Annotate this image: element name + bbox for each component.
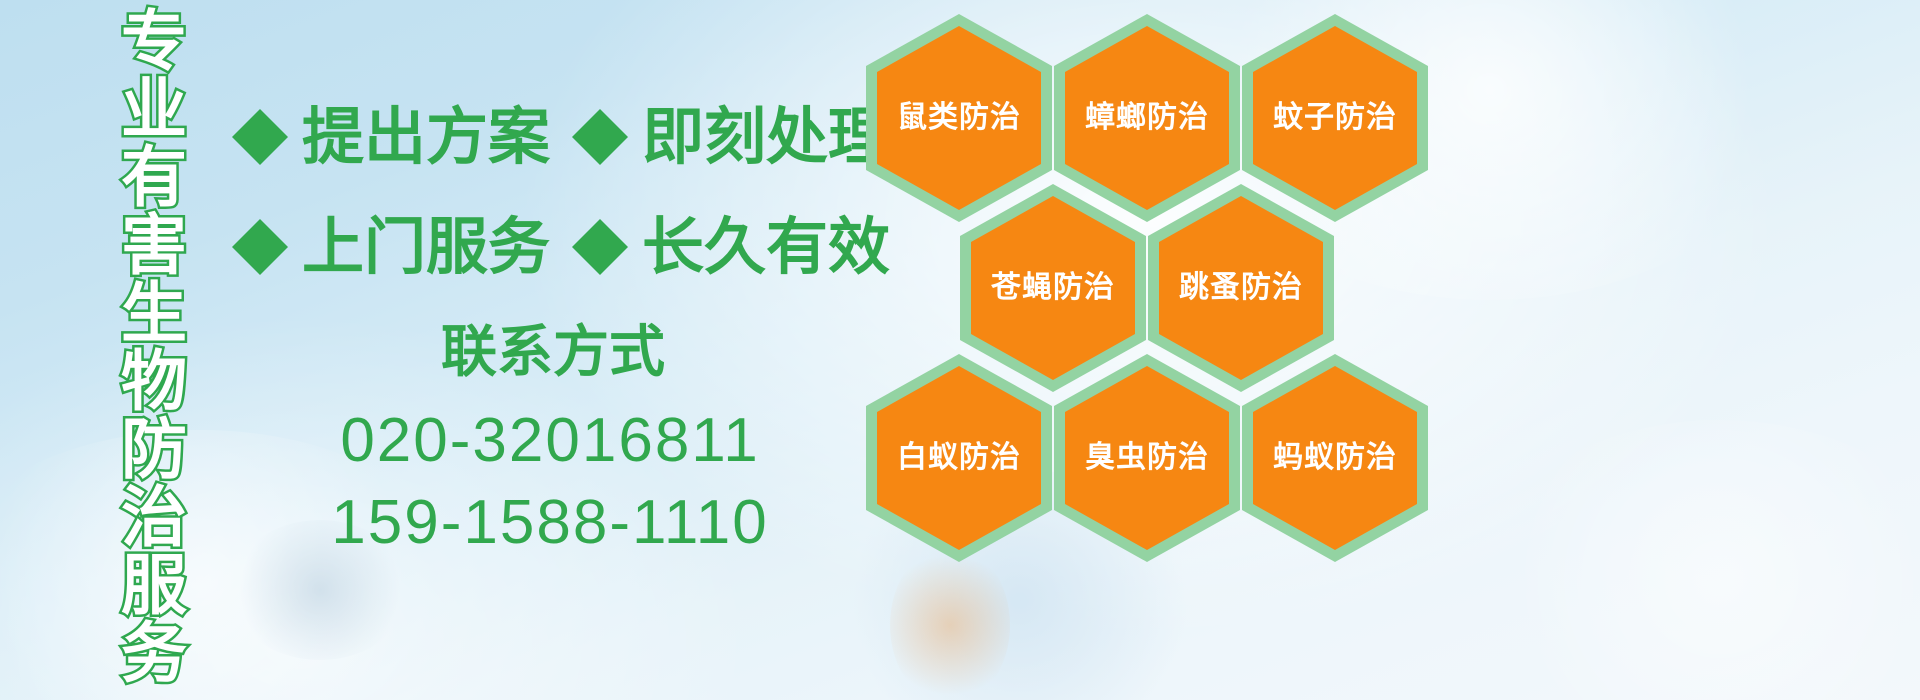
feature-item-long-lasting: 长久有效 bbox=[572, 215, 890, 279]
vertical-headline-char: 务 bbox=[121, 620, 187, 688]
vertical-headline-char: 物 bbox=[121, 348, 187, 416]
hex-label: 蚊子防治 bbox=[1273, 101, 1397, 135]
phone-landline[interactable]: 020-32016811 bbox=[300, 400, 800, 482]
background-glow-bottom-right bbox=[1480, 420, 1920, 700]
contact-block: 联系方式 020-32016811 159-1588-1110 bbox=[300, 318, 800, 564]
vertical-headline-char: 业 bbox=[121, 76, 187, 144]
vertical-headline-char: 生 bbox=[121, 280, 187, 348]
diamond-icon bbox=[572, 191, 628, 247]
hex-label: 白蚁防治 bbox=[897, 441, 1021, 475]
vertical-headline: 专 业 有 害 生 物 防 治 服 务 bbox=[106, 8, 202, 568]
hex-cell-termite-control[interactable]: 白蚁防治 bbox=[866, 354, 1052, 562]
pest-control-banner: 专 业 有 害 生 物 防 治 服 务 提出方案 即刻处理 上门服务 bbox=[0, 0, 1920, 700]
hex-label: 臭虫防治 bbox=[1085, 441, 1209, 475]
feature-item-onsite-service: 上门服务 bbox=[232, 215, 550, 279]
vertical-headline-char: 有 bbox=[121, 144, 187, 212]
feature-label: 上门服务 bbox=[302, 215, 550, 279]
hex-cell-bedbug-control[interactable]: 臭虫防治 bbox=[1054, 354, 1240, 562]
vertical-headline-char: 害 bbox=[121, 212, 187, 280]
diamond-icon bbox=[232, 191, 288, 247]
phone-mobile[interactable]: 159-1588-1110 bbox=[300, 482, 800, 564]
diamond-icon bbox=[572, 81, 628, 137]
feature-row: 上门服务 长久有效 bbox=[232, 192, 872, 302]
feature-label: 长久有效 bbox=[642, 215, 890, 279]
feature-item-propose-plan: 提出方案 bbox=[232, 105, 550, 169]
feature-label: 提出方案 bbox=[302, 105, 550, 169]
hex-label: 鼠类防治 bbox=[897, 101, 1021, 135]
vertical-headline-char: 服 bbox=[121, 552, 187, 620]
vertical-headline-char: 防 bbox=[121, 416, 187, 484]
hex-label: 蟑螂防治 bbox=[1085, 101, 1209, 135]
feature-list: 提出方案 即刻处理 上门服务 长久有效 bbox=[232, 82, 872, 302]
feature-item-immediate-action: 即刻处理 bbox=[572, 105, 890, 169]
feature-row: 提出方案 即刻处理 bbox=[232, 82, 872, 192]
background-glow-orange bbox=[890, 545, 1010, 700]
vertical-headline-char: 专 bbox=[121, 8, 187, 76]
hex-cell-ant-control[interactable]: 蚂蚁防治 bbox=[1242, 354, 1428, 562]
diamond-icon bbox=[232, 81, 288, 137]
contact-title: 联系方式 bbox=[306, 318, 800, 388]
hex-label: 跳蚤防治 bbox=[1179, 271, 1303, 305]
hex-label: 蚂蚁防治 bbox=[1273, 441, 1397, 475]
hex-label: 苍蝇防治 bbox=[991, 271, 1115, 305]
vertical-headline-char: 治 bbox=[121, 484, 187, 552]
feature-label: 即刻处理 bbox=[642, 105, 890, 169]
service-hex-grid: 鼠类防治 蟑螂防治 蚊子防治 苍蝇防治 跳蚤防治 白蚁防治 bbox=[862, 6, 1462, 566]
